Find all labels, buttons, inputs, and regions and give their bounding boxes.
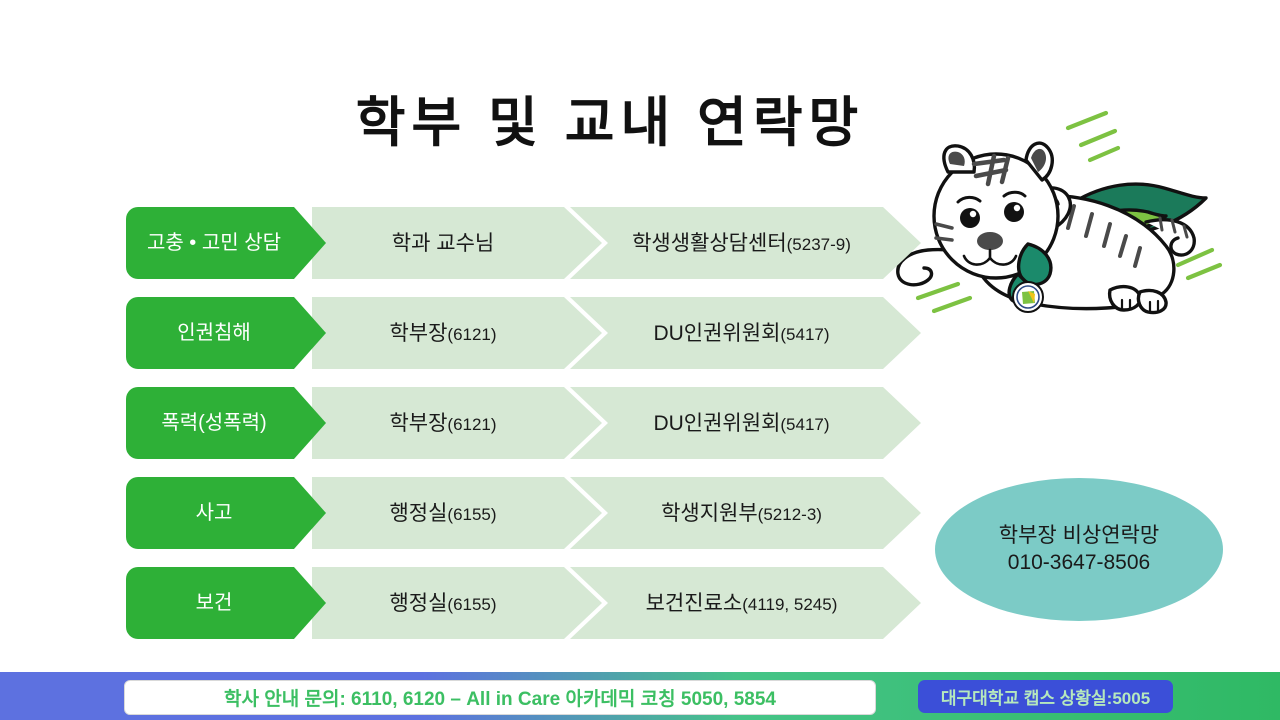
flow-category-label: 고충 • 고민 상담 — [147, 233, 281, 253]
flow-row: 행정실(6155) 보건진료소(4119, 5245) 보건 — [126, 567, 921, 639]
flow-step-2-label: 보건진료소(4119, 5245) — [646, 593, 838, 614]
flow-step-2[interactable]: DU인권위원회(5417) — [570, 387, 921, 459]
flow-category[interactable]: 사고 — [126, 477, 326, 549]
flow-step-2-label: DU인권위원회(5417) — [653, 413, 829, 434]
footer-academic-info-text: 학사 안내 문의: 6110, 6120 – All in Care 아카데믹 … — [224, 684, 776, 711]
flow-category-label: 보건 — [196, 593, 233, 613]
slide-canvas: 학부 및 교내 연락망 — [0, 0, 1280, 720]
flow-category[interactable]: 인권침해 — [126, 297, 326, 369]
footer-academic-info-pill[interactable]: 학사 안내 문의: 6110, 6120 – All in Care 아카데믹 … — [124, 680, 876, 715]
flow-step-2[interactable]: 학생생활상담센터(5237-9) — [570, 207, 921, 279]
flow-step-1[interactable]: 행정실(6155) — [312, 567, 602, 639]
footer-security-text: 대구대학교 캡스 상황실:5005 — [941, 684, 1150, 709]
footer-security-pill[interactable]: 대구대학교 캡스 상황실:5005 — [918, 680, 1173, 713]
flow-track: 학과 교수님 학생생활상담센터(5237-9) — [312, 207, 921, 279]
emergency-contact-callout: 학부장 비상연락망 010-3647-8506 — [935, 478, 1223, 621]
flow-row: 학부장(6121) DU인권위원회(5417) 폭력(성폭력) — [126, 387, 921, 459]
flow-track: 행정실(6155) 학생지원부(5212-3) — [312, 477, 921, 549]
flow-row: 학과 교수님 학생생활상담센터(5237-9) 고충 • 고민 상담 — [126, 207, 921, 279]
flow-step-2[interactable]: 학생지원부(5212-3) — [570, 477, 921, 549]
flow-step-1-label: 학과 교수님 — [392, 233, 494, 254]
flow-row: 학부장(6121) DU인권위원회(5417) 인권침해 — [126, 297, 921, 369]
flow-step-1-label: 행정실(6155) — [389, 593, 496, 614]
flow-step-1-label: 학부장(6121) — [389, 323, 496, 344]
flow-track: 학부장(6121) DU인권위원회(5417) — [312, 297, 921, 369]
flow-category[interactable]: 폭력(성폭력) — [126, 387, 326, 459]
flow-step-1[interactable]: 학부장(6121) — [312, 297, 602, 369]
flow-step-1[interactable]: 행정실(6155) — [312, 477, 602, 549]
flow-track: 학부장(6121) DU인권위원회(5417) — [312, 387, 921, 459]
flow-step-1[interactable]: 학부장(6121) — [312, 387, 602, 459]
flying-white-tiger-mascot — [878, 98, 1228, 326]
emergency-contact-title: 학부장 비상연락망 — [999, 523, 1159, 550]
flow-step-2[interactable]: DU인권위원회(5417) — [570, 297, 921, 369]
flow-category-label: 폭력(성폭력) — [161, 413, 266, 433]
flow-step-1-label: 학부장(6121) — [389, 413, 496, 434]
flow-track: 행정실(6155) 보건진료소(4119, 5245) — [312, 567, 921, 639]
emergency-contact-number: 010-3647-8506 — [1008, 550, 1150, 577]
flow-step-2-label: 학생생활상담센터(5237-9) — [632, 233, 851, 254]
flow-step-2-label: 학생지원부(5212-3) — [661, 503, 822, 524]
flow-step-1-label: 행정실(6155) — [389, 503, 496, 524]
flow-step-2-label: DU인권위원회(5417) — [653, 323, 829, 344]
flow-category[interactable]: 보건 — [126, 567, 326, 639]
flow-step-2[interactable]: 보건진료소(4119, 5245) — [570, 567, 921, 639]
flow-row: 행정실(6155) 학생지원부(5212-3) 사고 — [126, 477, 921, 549]
flow-category[interactable]: 고충 • 고민 상담 — [126, 207, 326, 279]
flow-category-label: 인권침해 — [177, 323, 251, 343]
flow-step-1[interactable]: 학과 교수님 — [312, 207, 602, 279]
flow-category-label: 사고 — [196, 503, 233, 523]
